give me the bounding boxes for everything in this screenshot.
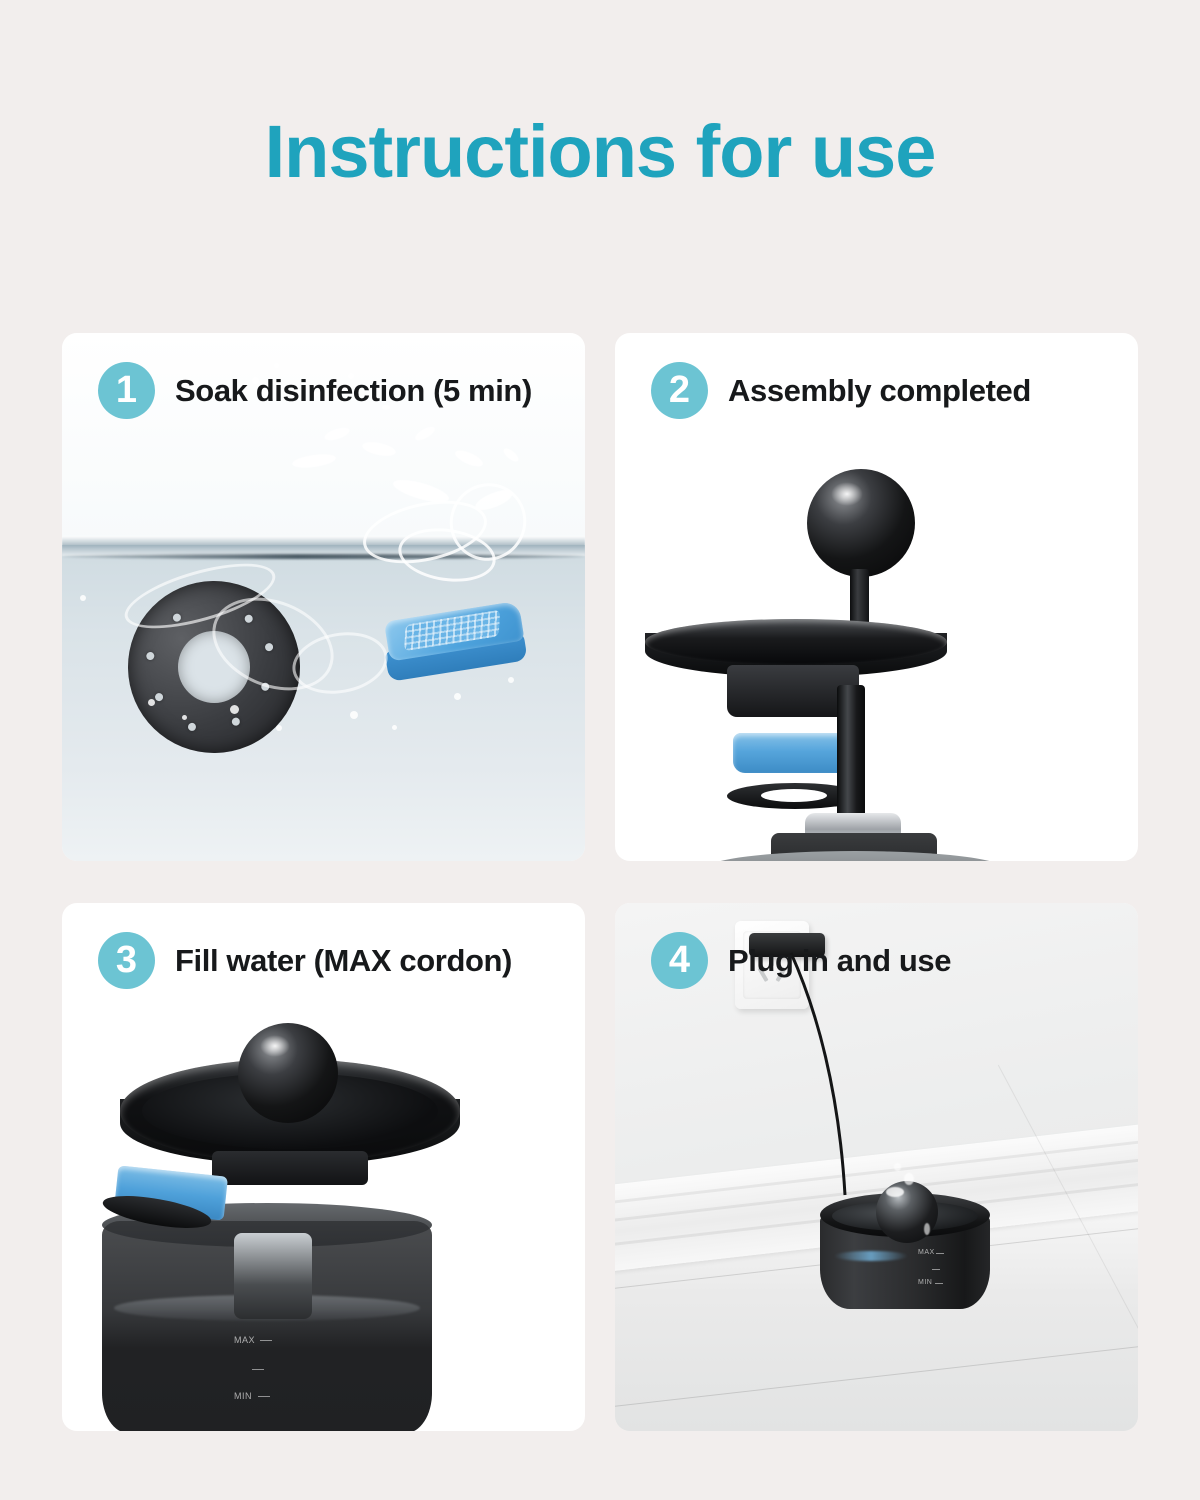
tank-min-label: MIN xyxy=(234,1391,252,1401)
step-header-3: 3 Fill water (MAX cordon) xyxy=(98,932,512,989)
step-card-2: MAX 2 Assembly completed xyxy=(615,333,1138,861)
step-card-1: 1 Soak disinfection (5 min) xyxy=(62,333,585,861)
page-title: Instructions for use xyxy=(0,110,1200,194)
step-title: Soak disinfection (5 min) xyxy=(175,373,532,409)
pet-water-fountain: MAX MIN xyxy=(820,1185,990,1315)
fountain-sphere xyxy=(807,469,915,577)
step-number-badge: 3 xyxy=(98,932,155,989)
fountain-tray xyxy=(645,619,947,665)
steps-grid: 1 Soak disinfection (5 min) MAX 2 Assemb… xyxy=(62,333,1138,1431)
step-title: Assembly completed xyxy=(728,373,1031,409)
step-title: Fill water (MAX cordon) xyxy=(175,943,512,979)
pump-column xyxy=(837,685,865,821)
step-number-badge: 4 xyxy=(651,932,708,989)
pump-column xyxy=(234,1233,312,1319)
tank-max-label: MAX xyxy=(234,1335,255,1345)
step-header-2: 2 Assembly completed xyxy=(651,362,1031,419)
sphere-stem xyxy=(850,569,869,627)
step-number-badge: 1 xyxy=(98,362,155,419)
fountain-sphere xyxy=(238,1023,338,1123)
step-header-4: 4 Plug in and use xyxy=(651,932,951,989)
step-title: Plug in and use xyxy=(728,943,951,979)
tank-min-label: MIN xyxy=(918,1279,932,1286)
pump-housing xyxy=(212,1151,368,1185)
step-header-1: 1 Soak disinfection (5 min) xyxy=(98,362,532,419)
step-card-4: MAX MIN 4 Plug in and use xyxy=(615,903,1138,1431)
tank-max-label: MAX xyxy=(918,1249,935,1256)
step-card-3: MAX MIN 3 Fill water (MAX cordon) xyxy=(62,903,585,1431)
step-number-badge: 2 xyxy=(651,362,708,419)
